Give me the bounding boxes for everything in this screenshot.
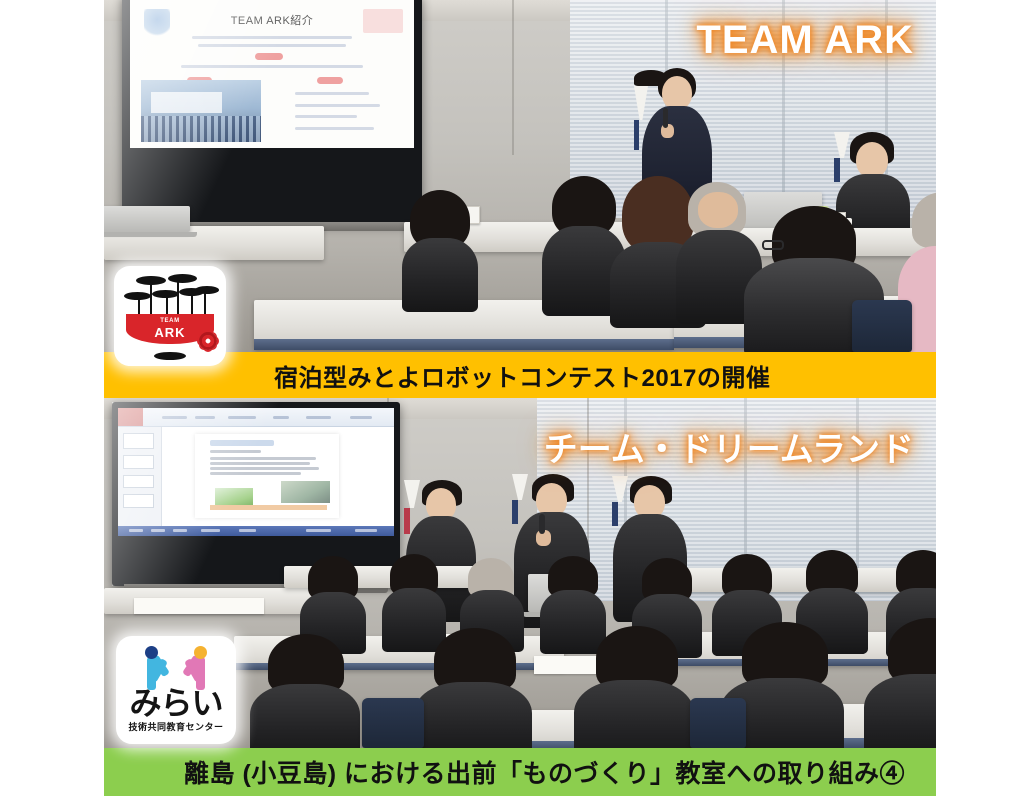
caption-text-top: 宿泊型みとよロボットコンテスト2017の開催 [274,358,770,393]
panel-top: TEAM ARK紹介 [104,0,936,398]
app-ribbon [118,408,394,427]
audience-member [402,190,478,310]
audience-member [574,626,694,748]
document-band [210,505,328,509]
wall-seam [512,0,514,155]
audience-member [250,634,360,748]
handout-paper [134,598,264,614]
mirai-word: みらい [116,687,236,719]
overlay-title-team-ark: TEAM ARK [696,18,914,63]
projector-unit [104,206,190,232]
app-screen-surface [118,408,394,536]
ark-logo-line1: TEAM [126,318,213,324]
app-ribbon-accent [118,408,143,426]
app-document-page [195,434,339,519]
caption-bar-bottom: 離島 (小豆島) における出前「ものづくり」教室への取り組み④ [104,748,936,796]
audience-member [414,628,532,748]
caption-bar-top: 宿泊型みとよロボットコンテスト2017の開催 [104,352,936,398]
document-image [215,488,252,505]
chair [852,300,912,352]
poster-root: TEAM ARK紹介 [0,0,1024,796]
microphone-icon [663,108,668,128]
chair [362,698,424,748]
document-heading [210,440,275,446]
eyeglasses-icon [762,240,784,250]
mirai-logo-badge: みらい 技術共同教育センター [116,636,236,744]
caption-text-bottom: 離島 (小豆島) における出前「ものづくり」教室への取り組み④ [184,754,905,790]
ark-mark-icon: TEAM ARK [114,266,226,366]
photo-top-seminar-room: TEAM ARK紹介 [104,0,936,352]
slide-title-text: TEAM ARK紹介 [130,12,414,28]
team-ark-logo-badge: TEAM ARK [114,266,226,366]
chair [690,698,746,748]
audience-member [864,618,936,748]
mirai-head-right [194,646,207,659]
document-image [281,481,330,503]
mirai-m-figures [145,645,207,690]
mirai-mark-icon: みらい 技術共同教育センター [116,636,236,744]
mirai-subtitle: 技術共同教育センター [116,720,236,733]
gear-icon [199,332,217,350]
projected-app-window [118,408,394,536]
microphone-icon [539,514,545,534]
projection-screen-top: TEAM ARK紹介 [122,0,422,224]
overlay-title-dream-land: チーム・ドリームランド [544,422,914,471]
app-status-bar [118,526,394,536]
app-sidebar [118,427,162,526]
slide-embedded-photo [141,80,260,142]
slide-surface: TEAM ARK紹介 [130,0,414,148]
ark-base-shape [154,352,185,360]
